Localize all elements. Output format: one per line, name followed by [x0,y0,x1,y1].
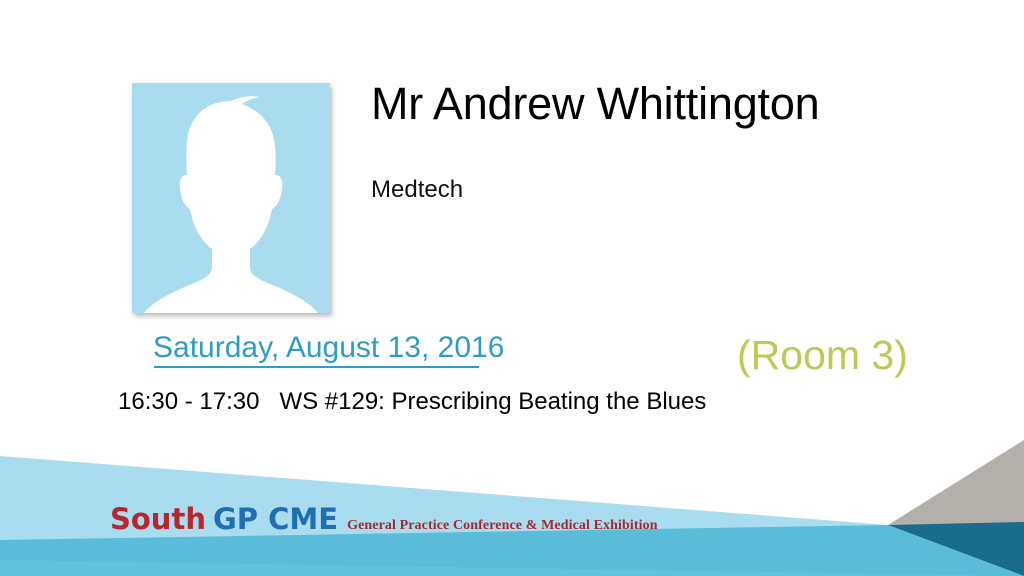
room-label: (Room 3) [737,330,908,380]
brand-logo: South GP CME General Practice Conference… [110,504,658,535]
speaker-photo-frame [132,83,330,313]
session-date: Saturday, August 13, 2016 [153,330,504,366]
speaker-photo-placeholder [132,83,330,313]
logo-word-gpcme: GP CME [213,504,338,534]
slide-canvas: Mr Andrew Whittington Medtech Saturday, … [0,0,1024,576]
logo-tagline: General Practice Conference & Medical Ex… [347,517,658,535]
speaker-name: Mr Andrew Whittington [371,77,819,131]
speaker-organisation: Medtech [371,175,463,205]
session-details: 16:30 - 17:30 WS #129: Prescribing Beati… [118,386,706,418]
logo-word-south: South [110,504,206,534]
person-placeholder-icon [144,96,318,313]
date-underline-rule [154,366,479,368]
